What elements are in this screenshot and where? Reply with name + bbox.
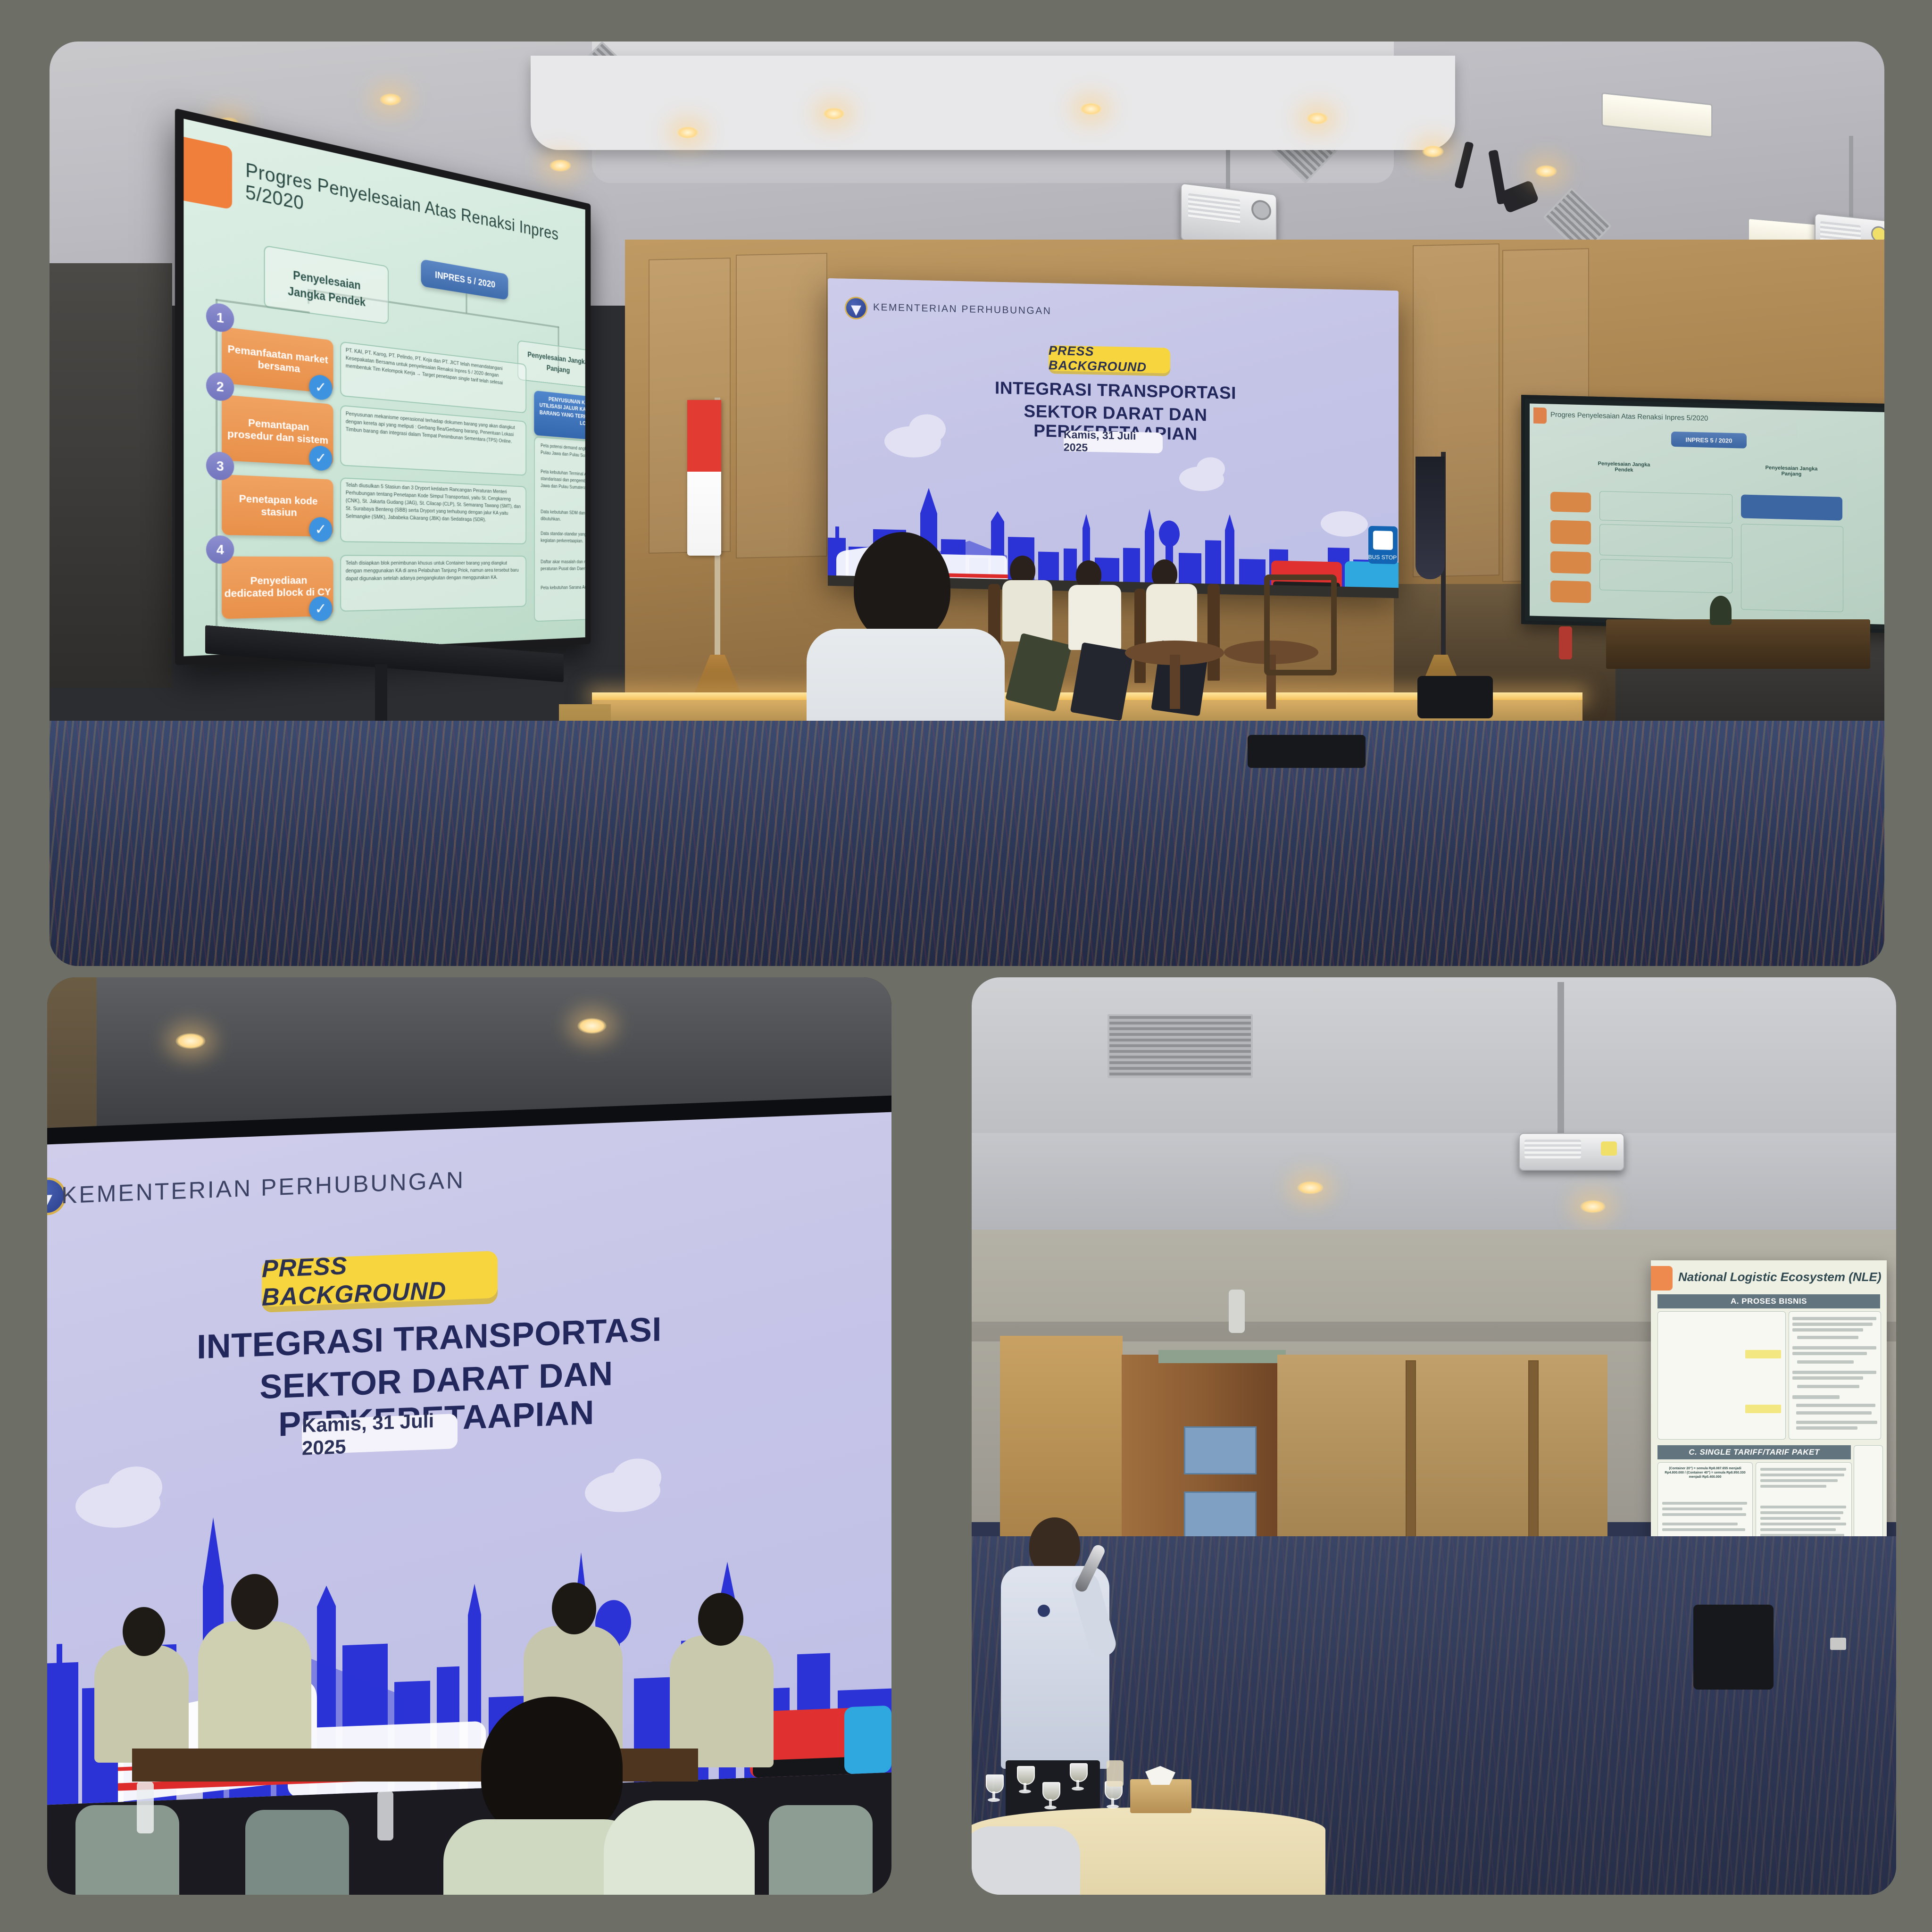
glass-foot bbox=[1072, 1787, 1084, 1790]
panelist-body bbox=[1002, 580, 1052, 641]
photo-collage: Progres Penyelesaian Atas Renaksi Inpres… bbox=[0, 0, 1932, 1932]
fire-extinguisher-icon bbox=[1559, 626, 1572, 659]
stage-monitor-speaker bbox=[1417, 676, 1493, 718]
seated-person-head bbox=[552, 1582, 596, 1634]
glass-foot bbox=[1019, 1790, 1031, 1793]
ministry-name: KEMENTERIAN PERHUBUNGAN bbox=[873, 302, 1051, 317]
empty-chair bbox=[1264, 575, 1337, 675]
mini-step-box bbox=[1550, 520, 1591, 545]
mini-longterm-box bbox=[1741, 524, 1843, 612]
slide-date: Kamis, 31 Juli 2025 bbox=[1064, 431, 1163, 454]
nle-bullet-line bbox=[1792, 1352, 1867, 1355]
nle-bullet-line bbox=[1792, 1323, 1873, 1326]
ceiling-light-icon bbox=[823, 108, 845, 120]
back-wall-dark bbox=[50, 263, 172, 688]
projector-icon bbox=[1519, 1133, 1624, 1171]
slide-accent-tab bbox=[1651, 1266, 1673, 1291]
banquet-chair bbox=[972, 1826, 1080, 1895]
seated-person-head bbox=[698, 1593, 743, 1646]
nle-bullet-line bbox=[1797, 1336, 1858, 1339]
nle-tariff-line bbox=[1760, 1474, 1844, 1476]
glass-foot bbox=[1107, 1805, 1119, 1808]
step-number: 1 bbox=[206, 302, 234, 333]
nle-bullet-line bbox=[1792, 1317, 1876, 1320]
right-screen-slide: Progres Penyelesaian Atas Renaksi Inpres… bbox=[1530, 403, 1884, 625]
side-table-leg bbox=[1170, 655, 1180, 709]
nle-highlight bbox=[1745, 1350, 1781, 1358]
air-vent-icon bbox=[1108, 1014, 1253, 1078]
ceiling-light-icon bbox=[175, 1033, 206, 1049]
carpet-floor bbox=[50, 721, 1884, 966]
nle-tariff-line bbox=[1662, 1523, 1738, 1525]
glass-foot bbox=[988, 1798, 1000, 1802]
globe-logo-icon bbox=[845, 297, 867, 320]
security-camera-icon bbox=[1229, 1290, 1245, 1333]
nle-tariff-line bbox=[1760, 1528, 1836, 1531]
mini-longterm-banner bbox=[1741, 494, 1842, 520]
mini-step-box bbox=[1550, 581, 1591, 603]
plant-decor bbox=[1710, 596, 1732, 625]
mini-step-box bbox=[1550, 551, 1591, 574]
nle-bullet-line bbox=[1797, 1360, 1854, 1364]
glass-bowl bbox=[1070, 1763, 1088, 1782]
wall-outlet-icon bbox=[1830, 1638, 1846, 1650]
nle-section-c-header: C. SINGLE TARIFF/TARIF PAKET bbox=[1657, 1445, 1851, 1459]
glass-bowl bbox=[986, 1774, 1004, 1793]
nle-tariff-line bbox=[1662, 1507, 1742, 1510]
seated-person-head bbox=[123, 1607, 165, 1656]
mini-root-node: INPRES 5 / 2020 bbox=[1671, 432, 1747, 449]
water-bottle bbox=[137, 1782, 154, 1833]
collage-tile-speaker-nle: National Logistic Ecosystem (NLE) A. PRO… bbox=[972, 977, 1896, 1895]
press-background-badge: PRESS BACKGROUND bbox=[262, 1251, 498, 1307]
nle-tariff-text: (Container 20") = semula Rp8.087.655 men… bbox=[1661, 1467, 1749, 1479]
nle-tariff-line bbox=[1760, 1485, 1826, 1488]
nle-service-line bbox=[1796, 1411, 1872, 1415]
decor-tile bbox=[1184, 1426, 1257, 1474]
ceiling-light-icon bbox=[577, 1018, 607, 1034]
mini-step-box bbox=[1550, 492, 1591, 513]
glass-bowl bbox=[1042, 1782, 1060, 1801]
speaker-head bbox=[854, 532, 950, 643]
seated-person bbox=[198, 1621, 311, 1763]
nle-bullet-line bbox=[1792, 1328, 1863, 1332]
long-term-item: Data kebutuhan SDM dan kompetensi yang d… bbox=[541, 509, 591, 525]
projector-mount-rod-right bbox=[1849, 136, 1853, 221]
nle-tariff-line bbox=[1760, 1511, 1843, 1514]
slide-accent-tab bbox=[183, 137, 232, 209]
decor-tile bbox=[1184, 1491, 1257, 1540]
mini-detail-box bbox=[1599, 559, 1732, 593]
nle-tariff-line bbox=[1662, 1528, 1745, 1531]
nle-tariff-line bbox=[1760, 1506, 1846, 1508]
nle-tariff-line bbox=[1760, 1468, 1846, 1471]
panel-chair bbox=[1134, 589, 1146, 683]
mini-detail-box bbox=[1599, 524, 1732, 558]
seated-person-head bbox=[231, 1574, 278, 1630]
mini-branch-long: Penyelesaian Jangka Panjang bbox=[1761, 465, 1822, 477]
nle-service-line bbox=[1796, 1426, 1857, 1430]
progress-slide: Progres Penyelesaian Atas Renaksi Inpres… bbox=[183, 119, 585, 657]
banquet-chair bbox=[245, 1810, 349, 1895]
panel-chair bbox=[1207, 584, 1220, 681]
nle-service-header bbox=[1792, 1395, 1840, 1399]
nle-tariff-line bbox=[1662, 1513, 1746, 1516]
water-bottle bbox=[377, 1791, 393, 1840]
nle-bullet-line bbox=[1792, 1376, 1863, 1380]
long-term-item: Daftar akar masalah dan rencana aksi der… bbox=[541, 559, 591, 573]
slide-date: Kamis, 31 Juli 2025 bbox=[302, 1414, 458, 1455]
sideboard-furniture bbox=[1606, 619, 1870, 669]
long-term-box bbox=[534, 436, 591, 622]
nle-diagram-panel bbox=[1657, 1311, 1786, 1440]
cloud-decor-icon bbox=[1197, 457, 1225, 480]
ceiling-light-icon bbox=[1422, 145, 1444, 158]
hand-sanitizer-bottle bbox=[1107, 1760, 1124, 1787]
nle-service-line bbox=[1796, 1421, 1877, 1424]
water-glass bbox=[1017, 1766, 1033, 1794]
nle-tariff-line bbox=[1760, 1479, 1838, 1482]
ceiling-light-icon bbox=[1580, 1200, 1606, 1213]
panelist-body bbox=[1146, 584, 1197, 647]
wood-panel bbox=[736, 253, 827, 558]
nle-tariff-line bbox=[1662, 1502, 1747, 1505]
tree-connector bbox=[466, 293, 467, 314]
speaker-badge-icon bbox=[1038, 1605, 1050, 1617]
glass-bowl bbox=[1017, 1766, 1035, 1785]
right-projection-screen: Progres Penyelesaian Atas Renaksi Inpres… bbox=[1521, 395, 1884, 634]
press-background-badge: PRESS BACKGROUND bbox=[1049, 345, 1170, 374]
nle-tariff-line bbox=[1760, 1517, 1840, 1520]
nle-highlight bbox=[1745, 1405, 1781, 1413]
projector-mount-rod bbox=[1557, 982, 1564, 1138]
step-number: 4 bbox=[206, 535, 234, 564]
pillar-top-band bbox=[1158, 1350, 1286, 1363]
step-check-icon: ✓ bbox=[309, 517, 333, 542]
indonesian-flag bbox=[687, 400, 721, 556]
nle-bullet-line bbox=[1797, 1385, 1859, 1388]
ceiling-light-icon bbox=[380, 93, 401, 106]
left-projection-screen: Progres Penyelesaian Atas Renaksi Inpres… bbox=[175, 108, 591, 665]
nle-bullet-line bbox=[1792, 1346, 1876, 1349]
mini-accent-tab bbox=[1533, 408, 1547, 424]
banquet-chair bbox=[75, 1805, 179, 1895]
water-glass bbox=[986, 1774, 1002, 1803]
seated-person bbox=[670, 1635, 774, 1767]
nle-slide-title: National Logistic Ecosystem (NLE) bbox=[1678, 1270, 1882, 1284]
nle-tariff-line bbox=[1760, 1523, 1846, 1525]
ceiling-light-icon bbox=[1080, 103, 1102, 115]
nle-section-a-header: A. PROSES BISNIS bbox=[1657, 1294, 1880, 1308]
banner-flag bbox=[1416, 457, 1445, 579]
ceiling-soffit bbox=[531, 56, 1455, 150]
audience-row bbox=[47, 1649, 891, 1895]
step-detail-text: Telah diusulkan 5 Stasiun dan 3 Dryport … bbox=[346, 482, 521, 525]
cloud-decor-icon bbox=[909, 414, 946, 444]
foreground-attendee-head bbox=[481, 1697, 623, 1838]
panelist-body bbox=[1068, 585, 1121, 650]
water-glass bbox=[1042, 1782, 1058, 1810]
banquet-chair bbox=[769, 1805, 873, 1895]
ceiling-light-icon bbox=[550, 159, 571, 172]
ministry-name: KEMENTERIAN PERHUBUNGAN bbox=[61, 1166, 465, 1209]
ceiling-light-icon bbox=[1307, 112, 1328, 125]
floor-speaker-cabinet bbox=[1693, 1605, 1774, 1690]
ceiling-light-icon bbox=[1535, 165, 1557, 177]
water-glass bbox=[1070, 1763, 1086, 1791]
collage-tile-title-slide: KEMENTERIAN PERHUBUNGAN PRESS BACKGROUND… bbox=[47, 977, 891, 1895]
mini-slide-title: Progres Penyelesaian Atas Renaksi Inpres… bbox=[1550, 411, 1708, 423]
svg-text:BUS STOP: BUS STOP bbox=[1368, 554, 1397, 561]
seated-person bbox=[94, 1645, 189, 1763]
ceiling-light-icon bbox=[677, 126, 699, 139]
inpres-root-node: INPRES 5 / 2020 bbox=[421, 259, 508, 300]
nle-service-line bbox=[1796, 1404, 1875, 1407]
mini-detail-box bbox=[1599, 491, 1732, 524]
ceiling-light-icon bbox=[1297, 1181, 1324, 1194]
foreground-attendee-body bbox=[604, 1800, 755, 1895]
mini-branch-short: Penyelesaian Jangka Pendek bbox=[1593, 461, 1655, 474]
collage-tile-wide-hall: Progres Penyelesaian Atas Renaksi Inpres… bbox=[50, 42, 1884, 966]
long-term-banner: PENYUSUNAN KAJIAN PENINGKATAN UTILISASI … bbox=[534, 391, 591, 444]
slide-title-line-1: INTEGRASI TRANSPORTASI bbox=[983, 378, 1248, 403]
long-term-item: Data standar-standar yang diperlukan dal… bbox=[541, 531, 591, 546]
nle-bullet-line bbox=[1792, 1371, 1876, 1374]
step-check-icon: ✓ bbox=[309, 596, 333, 622]
long-term-item: Peta kebutuhan Sarana Angkutan Barang. bbox=[541, 584, 591, 592]
stage-monitor-speaker bbox=[1248, 735, 1366, 768]
step-detail-text: Telah disiapkan blok penimbunan khusus u… bbox=[346, 560, 521, 583]
glass-foot bbox=[1044, 1806, 1057, 1809]
